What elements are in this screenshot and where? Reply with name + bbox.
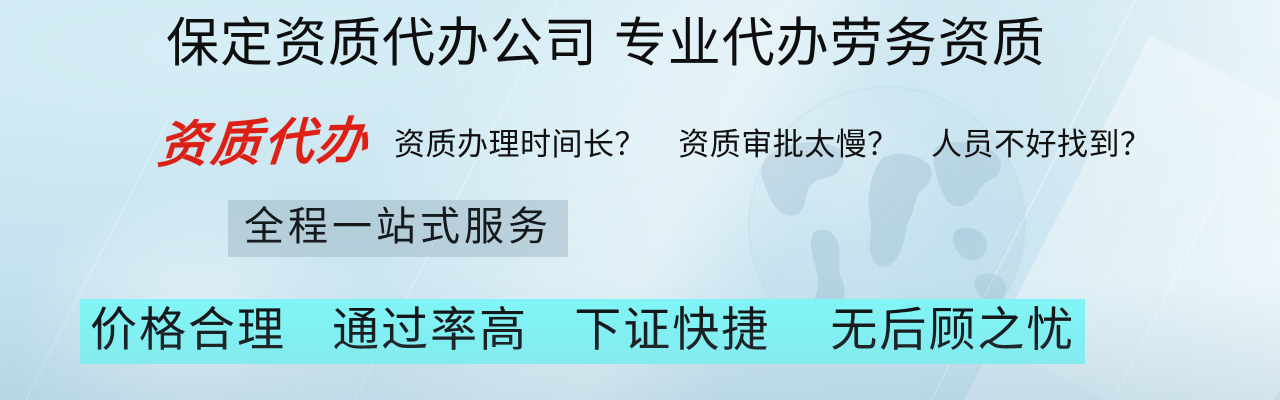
brush-stamp-text: 资质代办 [156,116,377,171]
one-stop-service-badge: 全程一站式服务 [228,200,568,257]
question-item-2: 资质审批太慢？ [678,127,899,162]
question-item-3: 人员不好找到？ [931,127,1152,162]
page-title: 保定资质代办公司 专业代办劳务资质 [166,14,1046,73]
middle-row: 资质代办 资质办理时间长？ 资质审批太慢？ 人员不好找到？ [158,112,1152,162]
background-bottom-shade [0,280,1280,400]
questions-line: 资质办理时间长？ 资质审批太慢？ 人员不好找到？ [374,129,1152,160]
question-item-1: 资质办理时间长？ [394,127,646,162]
one-stop-wrapper: 全程一站式服务 [228,200,568,257]
promo-banner: 保定资质代办公司 专业代办劳务资质 资质代办 资质办理时间长？ 资质审批太慢？ … [0,0,1280,400]
